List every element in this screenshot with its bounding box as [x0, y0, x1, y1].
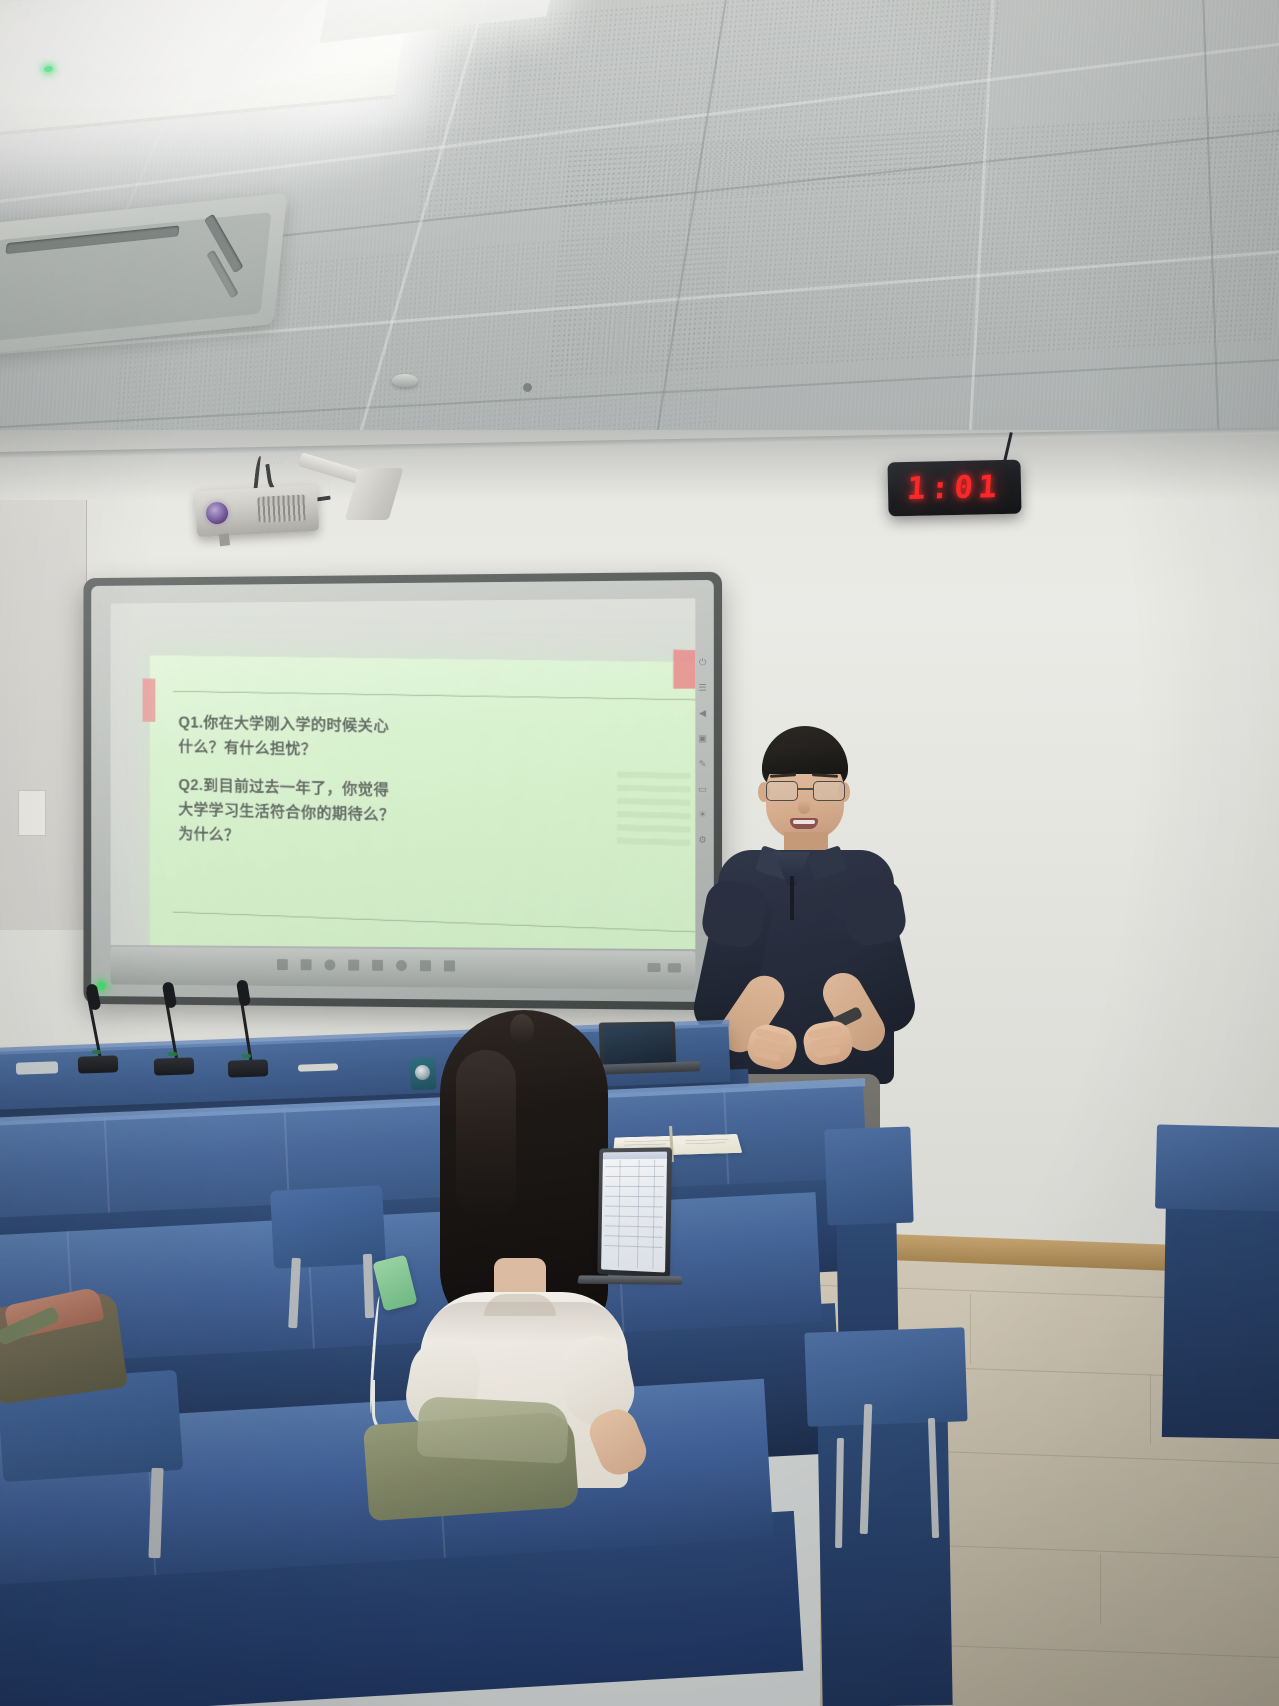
smoke-detector-icon [392, 374, 418, 387]
ceiling-projector [195, 485, 319, 537]
right-desk-far [1155, 1124, 1279, 1211]
presenter-nose [798, 800, 810, 814]
spreadsheet-row [605, 1176, 663, 1177]
folded-cloth-top [417, 1396, 570, 1464]
eyeglasses-icon [765, 781, 845, 800]
projector-vent-grill [257, 494, 306, 522]
whiteboard-surface[interactable]: Q1.你在大学刚入学的时候关心 什么？有什么担忧？ Q2.到目前过去一年了，你觉… [111, 598, 696, 949]
camera-icon[interactable] [420, 960, 431, 971]
home-icon[interactable] [277, 959, 288, 970]
grid-icon[interactable] [444, 960, 455, 971]
right-desk-upper [824, 1127, 913, 1226]
student-laptop-keyboard[interactable] [577, 1275, 682, 1284]
power-icon[interactable]: ⏻ [697, 657, 708, 668]
student-hair-highlight [456, 1050, 516, 1220]
polo-placket [790, 876, 794, 920]
microphone-base [78, 1055, 119, 1073]
slide-top-rule [173, 691, 696, 701]
tshirt-collar [484, 1294, 556, 1316]
microphone-led [92, 1050, 101, 1054]
microphone-led [168, 1052, 177, 1056]
whiteboard-tray-buttons[interactable] [647, 963, 681, 972]
floor-seam [970, 1294, 971, 1364]
select-icon[interactable] [372, 960, 383, 971]
spreadsheet-row [605, 1215, 663, 1217]
digital-clock: 1:01 [887, 460, 1021, 517]
clock-digits: 1:01 [906, 469, 1003, 507]
back-icon[interactable] [301, 959, 312, 970]
slide-watermark [617, 771, 690, 847]
spreadsheet-row [606, 1166, 664, 1167]
microphone-led [242, 1054, 251, 1058]
student-laptop-screen[interactable] [601, 1152, 667, 1273]
spreadsheet-row [604, 1235, 662, 1238]
presenter-hair-front [762, 744, 848, 774]
fabric-fold [104, 1117, 110, 1213]
wall-side-panel [0, 500, 87, 930]
pen-icon[interactable] [324, 959, 335, 970]
wall-notice-card [18, 790, 46, 836]
interactive-whiteboard[interactable]: Q1.你在大学刚入学的时候关心 什么？有什么担忧？ Q2.到目前过去一年了，你觉… [83, 572, 722, 1011]
whiteboard-tray-icons[interactable] [277, 959, 455, 971]
notebook-ruled-line [685, 1139, 728, 1141]
volume-icon[interactable]: ◀ [697, 708, 708, 719]
glasses-lens-right [813, 781, 845, 801]
menu-icon[interactable]: ☰ [697, 682, 708, 693]
spreadsheet-header-row [603, 1152, 667, 1160]
ceiling [0, 0, 1279, 470]
spreadsheet-row [605, 1186, 663, 1187]
eraser-icon[interactable] [348, 960, 359, 971]
whiteboard-control-tray[interactable] [111, 947, 696, 990]
classroom-photo: 1:01 Q1.你在大学刚入学的时候关心 什么？有什么担忧？ [0, 0, 1279, 1706]
glasses-bridge [797, 788, 814, 790]
microphone-base [228, 1059, 269, 1077]
power-button[interactable] [668, 963, 681, 972]
slide-accent-bar [142, 679, 155, 722]
floor-seam [1150, 1374, 1151, 1444]
projected-slide: Q1.你在大学刚入学的时候关心 什么？有什么担忧？ Q2.到目前过去一年了，你觉… [150, 655, 695, 949]
microphone-base [154, 1057, 195, 1075]
presenter-mouth [790, 818, 818, 829]
undo-icon[interactable] [396, 960, 407, 971]
slide-accent-block [673, 650, 695, 690]
whiteboard-bezel: Q1.你在大学刚入学的时候关心 什么？有什么担忧？ Q2.到目前过去一年了，你觉… [91, 580, 714, 1002]
projector-lens-icon [205, 502, 228, 525]
slide-text-block: Q1.你在大学刚入学的时候关心 什么？有什么担忧？ Q2.到目前过去一年了，你觉… [178, 710, 594, 860]
podium-paper [16, 1061, 58, 1074]
spreadsheet-row [604, 1245, 662, 1248]
student-laptop[interactable] [597, 1147, 672, 1277]
whiteboard-status-led [97, 981, 106, 990]
student-hair-part [510, 1014, 534, 1044]
notebook-ruled-line [686, 1142, 726, 1144]
slide-bottom-rule [173, 912, 696, 933]
spreadsheet-row [605, 1206, 663, 1208]
finger [814, 1046, 841, 1058]
spreadsheet-row [605, 1196, 663, 1198]
projector-foot [219, 533, 230, 546]
right-desk-skirt [1162, 1187, 1279, 1439]
floor-seam [1100, 1554, 1101, 1624]
podium-marker [298, 1063, 338, 1071]
right-desk-lower [804, 1327, 967, 1427]
spreadsheet-row [605, 1225, 663, 1227]
ceiling-speaker-icon [523, 383, 532, 392]
glasses-lens-left [766, 781, 798, 801]
source-button[interactable] [647, 963, 660, 972]
